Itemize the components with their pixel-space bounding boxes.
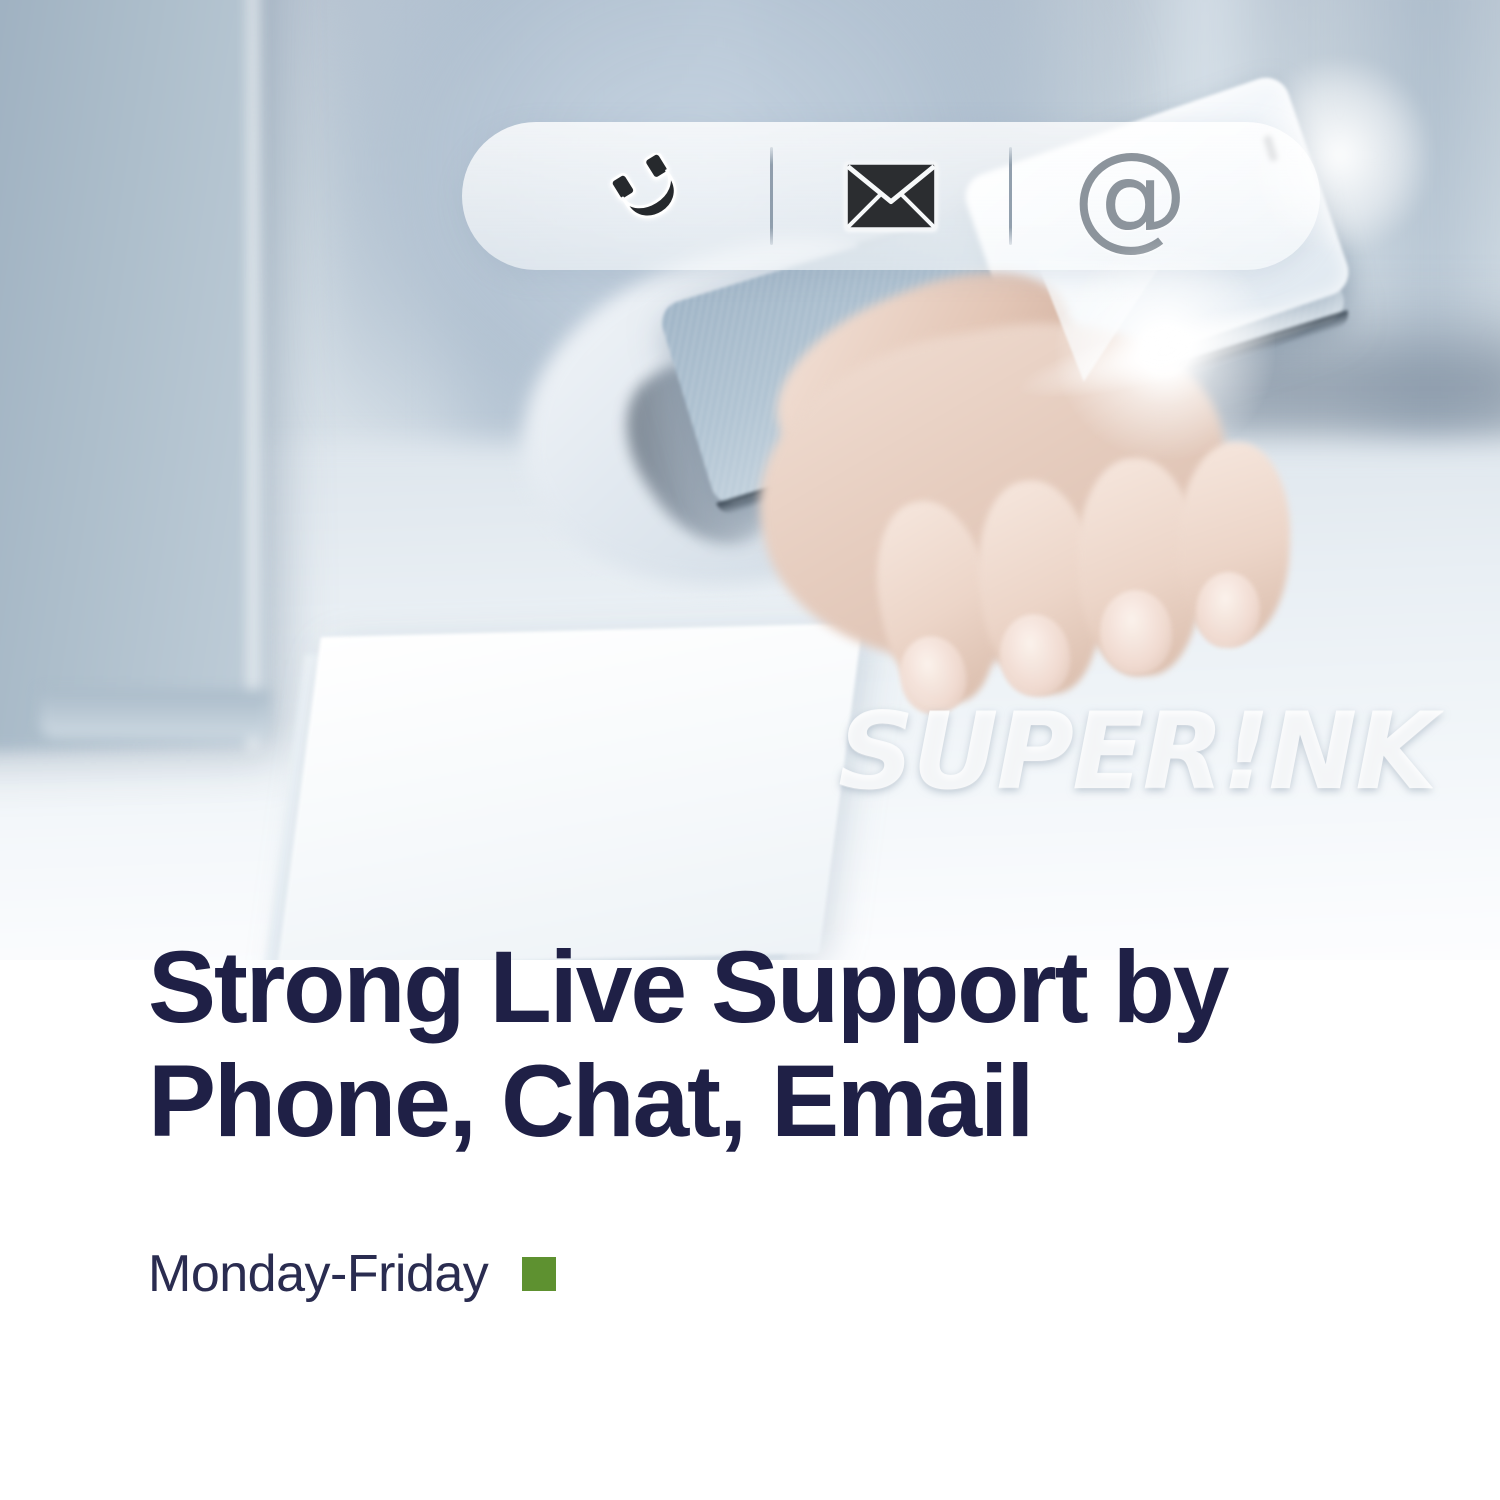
page-title: Strong Live Support by Phone, Chat, Emai… — [148, 930, 1348, 1158]
paper-sheet — [277, 623, 863, 960]
text-block: Strong Live Support by Phone, Chat, Emai… — [148, 930, 1348, 1304]
subtitle-row: Monday-Friday — [148, 1244, 1348, 1304]
support-banner: @ SUPER!NK Strong Live Support by Phone,… — [0, 0, 1500, 1500]
fingernail — [1195, 571, 1262, 649]
at-sign-icon: @ — [1072, 138, 1188, 254]
laptop-icon — [0, 0, 269, 754]
contact-bar-inner: @ — [534, 138, 1248, 254]
contact-item-at[interactable]: @ — [1012, 138, 1248, 254]
laptop-foot — [40, 690, 270, 738]
envelope-icon — [843, 160, 939, 232]
superink-watermark: SUPER!NK — [838, 690, 1435, 813]
contact-item-email[interactable] — [773, 160, 1009, 232]
phone-icon — [609, 153, 695, 239]
contact-item-phone[interactable] — [534, 153, 770, 239]
contact-bar: @ — [462, 122, 1320, 270]
hero-photo: @ SUPER!NK — [0, 0, 1500, 960]
availability-label: Monday-Friday — [148, 1244, 488, 1304]
speech-bubble-tail — [1022, 256, 1158, 388]
laptop-edge — [248, 0, 264, 750]
green-square-icon — [522, 1257, 556, 1291]
